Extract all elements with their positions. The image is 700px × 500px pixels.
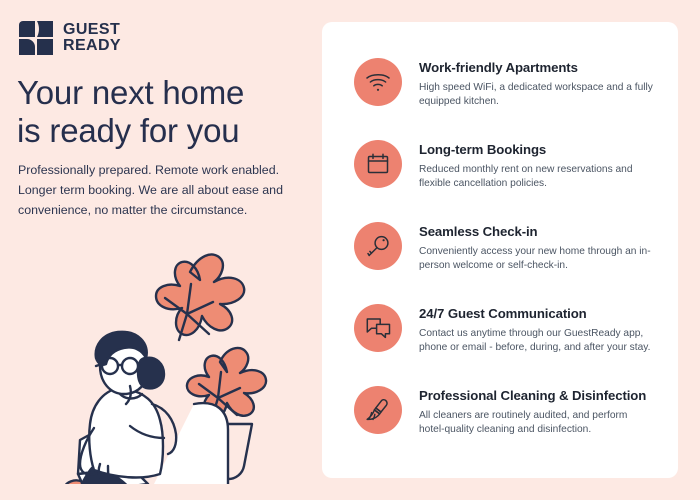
brand-logo[interactable]: GUEST READY <box>18 20 121 56</box>
feature-description: Conveniently access your new home throug… <box>419 245 654 274</box>
feature-description: Contact us anytime through our GuestRead… <box>419 327 654 356</box>
wifi-icon <box>354 58 402 106</box>
feature-item-long-term-bookings[interactable]: Long-term Bookings Reduced monthly rent … <box>354 140 654 220</box>
guestready-quadrant-logo-icon <box>18 20 54 56</box>
chat-bubbles-icon <box>354 304 402 352</box>
brand-name-line2: READY <box>63 38 121 54</box>
headline-line-1: Your next home <box>17 74 244 111</box>
brand-wordmark: GUEST READY <box>63 22 121 53</box>
feature-item-guest-communication[interactable]: 24/7 Guest Communication Contact us anyt… <box>354 304 654 384</box>
feature-text: Seamless Check-in Conveniently access yo… <box>402 222 654 273</box>
feature-title: Work-friendly Apartments <box>419 60 654 77</box>
feature-title: 24/7 Guest Communication <box>419 306 654 323</box>
brand-name-line1: GUEST <box>63 22 121 38</box>
key-icon <box>354 222 402 270</box>
feature-description: All cleaners are routinely audited, and … <box>419 409 654 438</box>
features-panel: Work-friendly Apartments High speed WiFi… <box>322 22 678 478</box>
hero-column: GUEST READY Your next home is ready for … <box>0 0 320 500</box>
headline-line-2: is ready for you <box>17 112 239 149</box>
feature-text: Professional Cleaning & Disinfection All… <box>402 386 654 437</box>
feature-description: High speed WiFi, a dedicated workspace a… <box>419 81 654 110</box>
feature-description: Reduced monthly rent on new reservations… <box>419 163 654 192</box>
feature-title: Professional Cleaning & Disinfection <box>419 388 654 405</box>
feature-item-professional-cleaning[interactable]: Professional Cleaning & Disinfection All… <box>354 386 654 466</box>
page-subtitle: Professionally prepared. Remote work ena… <box>18 160 293 220</box>
feature-text: 24/7 Guest Communication Contact us anyt… <box>402 304 654 355</box>
feature-item-seamless-check-in[interactable]: Seamless Check-in Conveniently access yo… <box>354 222 654 302</box>
hero-illustration <box>34 228 302 484</box>
feature-item-work-friendly-apartments[interactable]: Work-friendly Apartments High speed WiFi… <box>354 58 654 138</box>
feature-title: Seamless Check-in <box>419 224 654 241</box>
broom-icon <box>354 386 402 434</box>
feature-text: Long-term Bookings Reduced monthly rent … <box>402 140 654 191</box>
feature-text: Work-friendly Apartments High speed WiFi… <box>402 58 654 109</box>
page-title: Your next home is ready for you <box>17 74 307 149</box>
feature-title: Long-term Bookings <box>419 142 654 159</box>
calendar-icon <box>354 140 402 188</box>
